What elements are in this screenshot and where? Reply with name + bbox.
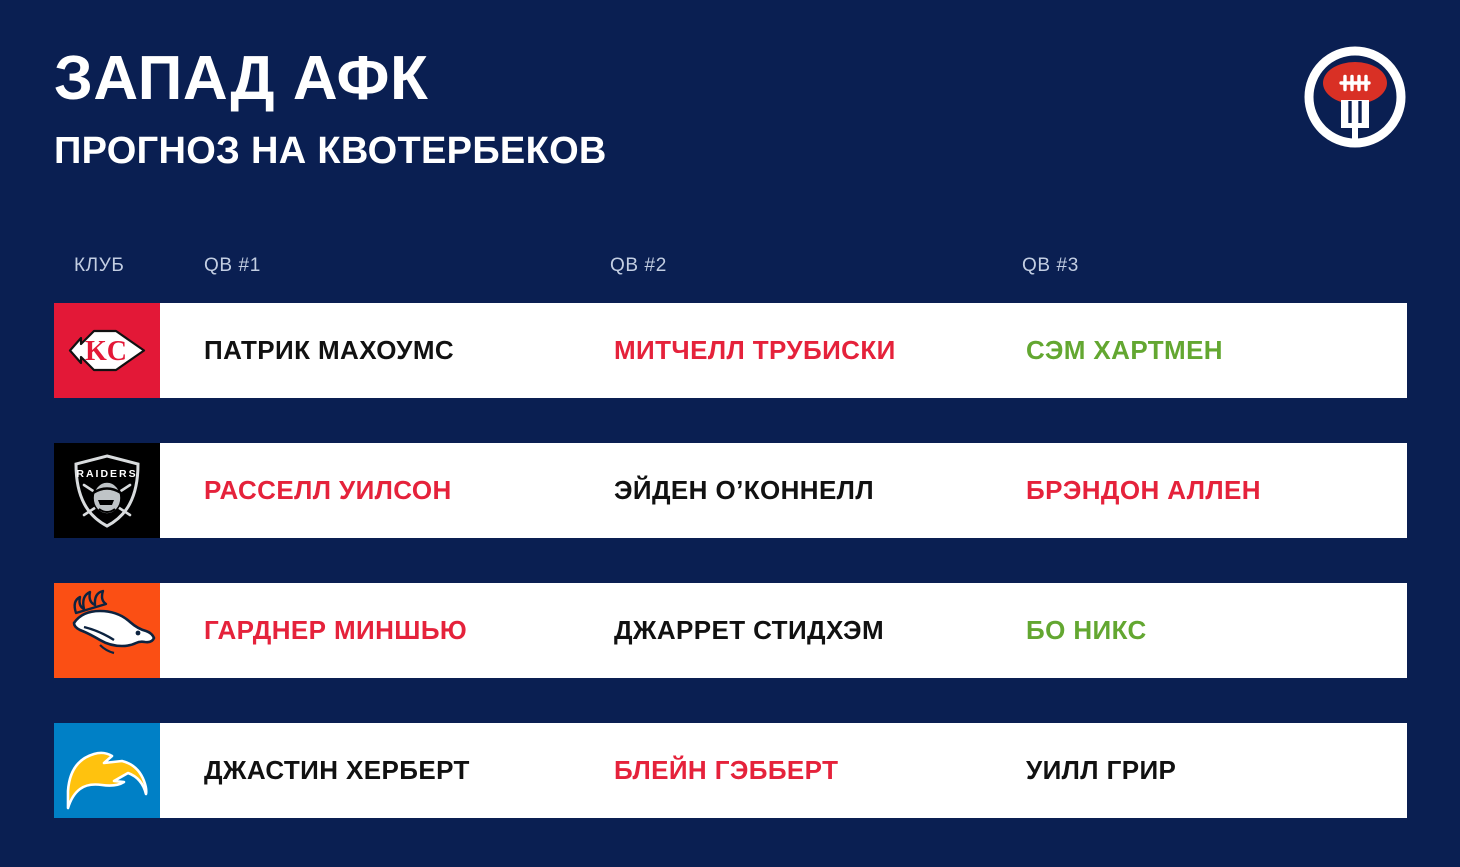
football-trophy-circle-icon	[1303, 45, 1407, 149]
denver-broncos-logo-icon	[54, 583, 160, 678]
qb1-name: ДЖАСТИН ХЕРБЕРТ	[204, 723, 470, 818]
qb1-name: ГАРДНЕР МИНШЬЮ	[204, 583, 467, 678]
qb1-name: ПАТРИК МАХОУМС	[204, 303, 454, 398]
qb2-name: БЛЕЙН ГЭББЕРТ	[614, 723, 838, 818]
column-header-qb1: QB #1	[204, 255, 261, 277]
column-header-qb2: QB #2	[610, 255, 667, 277]
los-angeles-chargers-logo-icon	[54, 723, 160, 818]
table-row[interactable]: KC ПАТРИК МАХОУМС МИТЧЕЛЛ ТРУБИСКИ СЭМ Х…	[54, 303, 1407, 398]
table-row[interactable]: RAIDERS РАССЕЛЛ УИЛСОН ЭЙДЕН О’КОННЕЛЛ Б…	[54, 443, 1407, 538]
svg-text:KC: KC	[85, 336, 127, 367]
qb3-name: БРЭНДОН АЛЛЕН	[1026, 443, 1261, 538]
table-row[interactable]: ДЖАСТИН ХЕРБЕРТ БЛЕЙН ГЭББЕРТ УИЛЛ ГРИР	[54, 723, 1407, 818]
table-header-row: КЛУБ QB #1 QB #2 QB #3	[54, 255, 1407, 287]
svg-text:RAIDERS: RAIDERS	[76, 468, 137, 480]
depth-chart-table: KC ПАТРИК МАХОУМС МИТЧЕЛЛ ТРУБИСКИ СЭМ Х…	[54, 303, 1407, 863]
table-row[interactable]: ГАРДНЕР МИНШЬЮ ДЖАРРЕТ СТИДХЭМ БО НИКС	[54, 583, 1407, 678]
qb2-name: МИТЧЕЛЛ ТРУБИСКИ	[614, 303, 896, 398]
column-header-qb3: QB #3	[1022, 255, 1079, 277]
qb3-name: СЭМ ХАРТМЕН	[1026, 303, 1223, 398]
page-title: ЗАПАД АФК	[54, 48, 1407, 110]
qb1-name: РАССЕЛЛ УИЛСОН	[204, 443, 452, 538]
kansas-city-chiefs-logo-icon: KC	[54, 303, 160, 398]
page-subtitle: ПРОГНОЗ НА КВОТЕРБЕКОВ	[54, 132, 1407, 170]
page-header: ЗАПАД АФК ПРОГНОЗ НА КВОТЕРБЕКОВ	[54, 48, 1407, 188]
qb2-name: ЭЙДЕН О’КОННЕЛЛ	[614, 443, 874, 538]
qb3-name: УИЛЛ ГРИР	[1026, 723, 1176, 818]
qb2-name: ДЖАРРЕТ СТИДХЭМ	[614, 583, 884, 678]
qb3-name: БО НИКС	[1026, 583, 1147, 678]
las-vegas-raiders-logo-icon: RAIDERS	[54, 443, 160, 538]
column-header-club: КЛУБ	[74, 255, 124, 277]
